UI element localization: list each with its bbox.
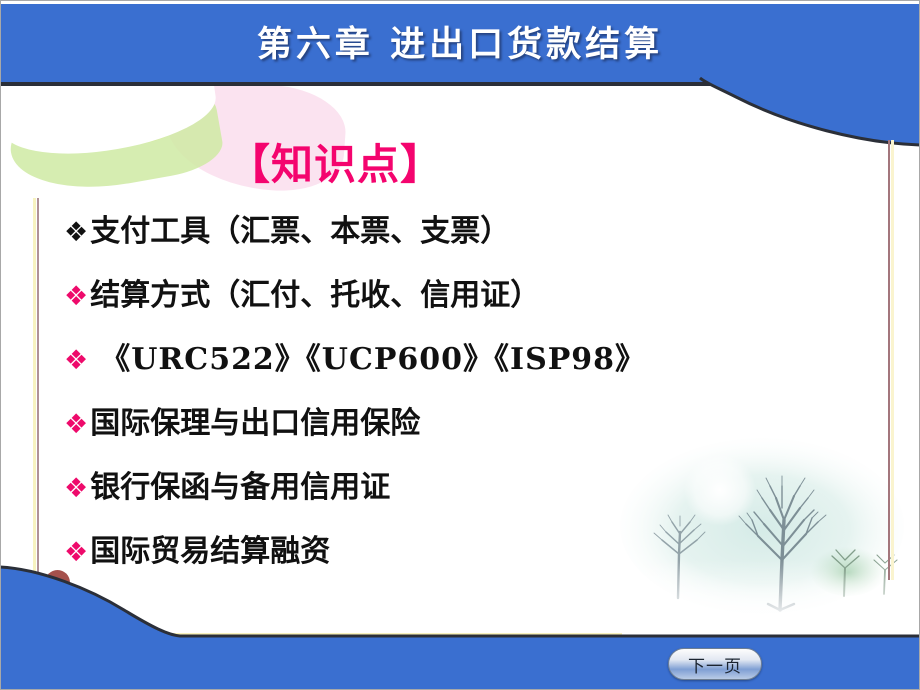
diamond-bullet-icon: ❖ [64,219,88,246]
next-page-button[interactable]: 下一页 [668,648,762,680]
list-item: ❖ 支付工具（汇票、本票、支票） [64,206,764,250]
list-item: ❖ 银行保函与备用信用证 [64,462,764,506]
slide-title: 第六章 进出口货款结算 [0,16,920,67]
diamond-bullet-icon: ❖ [64,411,88,438]
list-item: ❖ 《URC522》《UCP600》《ISP98》 [64,334,764,378]
diamond-bullet-icon: ❖ [64,283,88,310]
list-item: ❖ 国际保理与出口信用保险 [64,398,764,442]
knowledge-points-heading: 【知识点】 [228,131,443,192]
footer-band [0,555,920,690]
list-item-label: 《URC522》《UCP600》《ISP98》 [100,334,646,378]
diamond-bullet-icon: ❖ [64,347,88,374]
list-item: ❖ 结算方式（汇付、托收、信用证） [64,270,764,314]
knowledge-points-list: ❖ 支付工具（汇票、本票、支票） ❖ 结算方式（汇付、托收、信用证） ❖ 《UR… [64,206,764,590]
border-rule-right-maroon [888,140,890,580]
list-item-label: 结算方式（汇付、托收、信用证） [90,270,540,314]
presentation-slide: 第六章 进出口货款结算 【知识点】 [0,0,920,690]
list-item-label: 银行保函与备用信用证 [90,462,390,506]
list-item-label: 国际保理与出口信用保险 [90,398,420,442]
border-rule-right-yellow [891,140,894,580]
list-item-label: 支付工具（汇票、本票、支票） [90,206,510,250]
diamond-bullet-icon: ❖ [64,475,88,502]
